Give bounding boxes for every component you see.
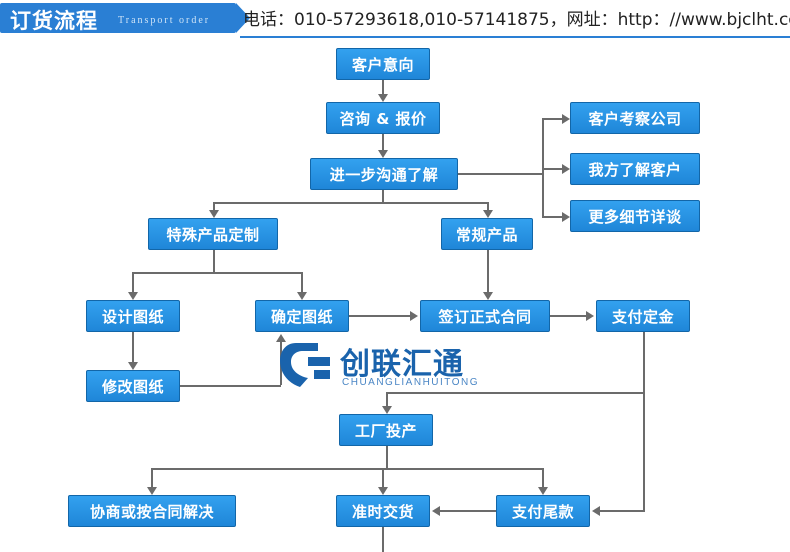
flow-node-revise-drawing[interactable]: 修改图纸: [86, 370, 180, 402]
flow-node-custom-product[interactable]: 特殊产品定制: [148, 218, 278, 250]
arrow-rightbus-n6: [562, 212, 570, 222]
arrow-n11-n12: [586, 311, 594, 321]
arrow-bottombus-n16: [378, 487, 388, 495]
arrow-bus-n14: [382, 406, 392, 414]
connector-n11-n12: [550, 315, 586, 317]
connector-n10-n11: [349, 315, 410, 317]
arrow-n1-n2: [378, 94, 388, 102]
connector-right-to-n17: [600, 510, 645, 512]
arrow-n2-n3: [378, 150, 388, 158]
connector-n8-n11: [487, 250, 489, 292]
arrow-right-to-n17: [592, 506, 600, 516]
flow-node-consult-quote[interactable]: 咨询 & 报价: [326, 102, 440, 134]
company-logo: 创联汇通 CHUANGLIANHUITONG: [278, 337, 493, 399]
arrow-n9-n13: [128, 362, 138, 370]
flow-node-customer-intent[interactable]: 客户意向: [336, 48, 430, 80]
arrow-n17-n16: [432, 506, 440, 516]
connector-bottombus-n16: [382, 468, 384, 487]
arrow-n7bus-n10: [297, 292, 307, 300]
connector-bottom-bus: [151, 468, 543, 470]
arrow-rightbus-n4: [562, 114, 570, 124]
flow-node-customer-visit[interactable]: 客户考察公司: [570, 102, 700, 134]
chuanglianhuitong-logo-icon: [278, 337, 336, 393]
flow-node-more-details[interactable]: 更多细节详谈: [570, 200, 700, 232]
page-title: 订货流程: [10, 5, 98, 35]
arrow-n8-n11: [483, 292, 493, 300]
connector-n1-n2: [382, 80, 384, 94]
header-divider: [240, 36, 790, 38]
connector-n2-n3: [382, 134, 384, 150]
flow-node-design-drawing[interactable]: 设计图纸: [86, 300, 180, 332]
connector-n14-down: [386, 446, 388, 468]
order-process-flowchart: 客户意向 咨询 & 报价 进一步沟通了解 客户考察公司 我方了解客户 更多细节详…: [0, 40, 790, 552]
connector-right-column-down: [643, 392, 645, 510]
flow-node-on-time-delivery[interactable]: 准时交货: [336, 495, 430, 527]
connector-split-bus: [213, 202, 487, 204]
connector-bottombus-n17: [542, 468, 544, 487]
connector-n7bus-n9: [132, 272, 134, 292]
connector-n12-down: [643, 332, 645, 392]
flow-node-pay-deposit[interactable]: 支付定金: [596, 300, 690, 332]
connector-n3-down: [382, 190, 384, 202]
connector-rightbus-n5: [542, 168, 562, 170]
connector-n7-down: [213, 250, 215, 272]
connector-rightbus-n6: [542, 216, 562, 218]
arrow-bottombus-n17: [538, 487, 548, 495]
page-subtitle: Transport order: [118, 15, 210, 26]
connector-bus-n7: [213, 202, 215, 210]
connector-bottombus-n15: [151, 468, 153, 487]
logo-pinyin: CHUANGLIANHUITONG: [342, 377, 479, 388]
flow-node-negotiate-resolve[interactable]: 协商或按合同解决: [68, 495, 236, 527]
flow-node-we-understand-customer[interactable]: 我方了解客户: [570, 153, 700, 185]
connector-n9-n13: [132, 332, 134, 362]
connector-n13-right: [180, 385, 281, 387]
arrow-n7bus-n9: [128, 292, 138, 300]
flow-node-further-communication[interactable]: 进一步沟通了解: [310, 158, 458, 190]
flow-node-standard-product[interactable]: 常规产品: [441, 218, 533, 250]
connector-rightbus-n4: [542, 118, 562, 120]
connector-n7bus-n10: [301, 272, 303, 292]
connector-n3-rightbus: [458, 173, 544, 175]
connector-bus-n8: [487, 202, 489, 210]
flow-node-pay-balance[interactable]: 支付尾款: [496, 495, 590, 527]
connector-n16-down: [382, 527, 384, 552]
flow-node-confirm-drawing[interactable]: 确定图纸: [255, 300, 349, 332]
arrow-n10-n11: [410, 311, 418, 321]
contact-info: 电话：010-57293618,010-57141875，网址：http：//w…: [243, 5, 790, 30]
arrow-bus-n8: [483, 210, 493, 218]
connector-n17-n16: [440, 510, 496, 512]
arrow-bottombus-n15: [147, 487, 157, 495]
flow-node-sign-contract[interactable]: 签订正式合同: [420, 300, 550, 332]
arrow-rightbus-n5: [562, 164, 570, 174]
arrow-bus-n7: [209, 210, 219, 218]
connector-n7-bus: [132, 272, 302, 274]
page-header: 订货流程 Transport order 电话：010-57293618,010…: [0, 0, 790, 40]
flow-node-factory-production[interactable]: 工厂投产: [339, 414, 433, 446]
